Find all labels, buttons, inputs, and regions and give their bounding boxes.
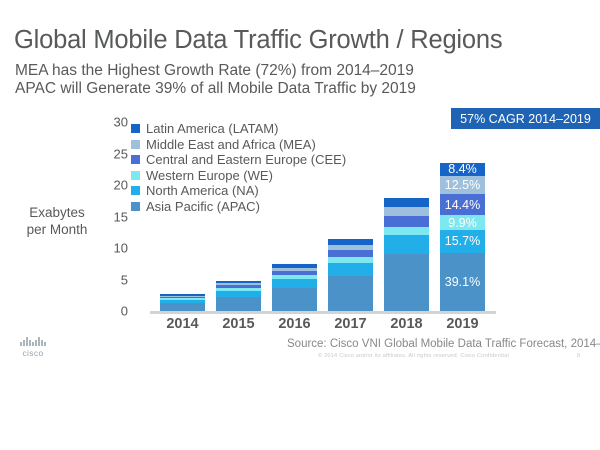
legend-item-label: Asia Pacific (APAC) [146, 199, 260, 214]
bar-segment-2018-NA[interactable] [384, 235, 429, 255]
chart-legend: Latin America (LATAM)Middle East and Afr… [131, 121, 346, 214]
bar-column-2015[interactable] [216, 281, 261, 311]
bar-segment-2019-APAC[interactable]: 39.1% [440, 253, 485, 311]
bar-column-2016[interactable] [272, 264, 317, 311]
y-axis-tick-labels: 051015202530 [0, 0, 600, 450]
bar-segment-2019-MEA[interactable]: 12.5% [440, 176, 485, 194]
bar-segment-2016-APAC[interactable] [272, 288, 317, 311]
bar-segment-2018-CEE[interactable] [384, 216, 429, 227]
y-axis-tick-0: 0 [100, 304, 128, 319]
legend-item-label: Middle East and Africa (MEA) [146, 137, 316, 152]
bar-column-2017[interactable] [328, 239, 373, 311]
page-number: 8 [577, 353, 580, 359]
y-axis-tick-15: 15 [100, 209, 128, 224]
y-axis-tick-25: 25 [100, 146, 128, 161]
bar-segment-2019-CEE[interactable]: 14.4% [440, 194, 485, 215]
source-note: Source: Cisco VNI Global Mobile Data Tra… [287, 338, 600, 350]
x-axis-tick-2019: 2019 [433, 316, 493, 332]
legend-swatch-icon [131, 155, 140, 164]
x-axis-tick-2015: 2015 [209, 316, 269, 332]
bar-segment-2017-CEE[interactable] [328, 250, 373, 257]
bar-value-label-2019-LATAM: 8.4% [440, 162, 485, 176]
cisco-logo: cisco [12, 337, 54, 358]
cisco-logo-bar [29, 340, 30, 346]
bar-column-2019[interactable]: 8.4%12.5%14.4%9.9%15.7%39.1% [440, 163, 485, 311]
bar-segment-2018-APAC[interactable] [384, 254, 429, 311]
x-axis-tick-2017: 2017 [321, 316, 381, 332]
stacked-bar-chart: Exabytes per Month 051015202530 8.4%12.5… [0, 0, 600, 450]
cisco-logo-bar [44, 342, 45, 346]
y-axis-tick-5: 5 [100, 272, 128, 287]
x-axis-baseline [150, 311, 496, 314]
legend-item-0[interactable]: Latin America (LATAM) [131, 121, 346, 137]
legend-item-label: Central and Eastern Europe (CEE) [146, 152, 346, 167]
cisco-bridge-icon [12, 337, 54, 346]
cisco-logo-bar [38, 337, 39, 346]
legend-item-3[interactable]: Western Europe (WE) [131, 168, 346, 184]
cisco-logo-bar [41, 340, 42, 346]
bar-segment-2016-NA[interactable] [272, 279, 317, 288]
copyright-note: © 2014 Cisco and/or its affiliates. All … [318, 353, 509, 359]
legend-item-label: Latin America (LATAM) [146, 121, 278, 136]
cisco-logo-bar [32, 342, 33, 346]
bar-value-label-2019-WE: 9.9% [440, 216, 485, 230]
x-axis-tick-2016: 2016 [265, 316, 325, 332]
x-axis-tick-2018: 2018 [377, 316, 437, 332]
bar-segment-2019-WE[interactable]: 9.9% [440, 215, 485, 229]
legend-item-label: Western Europe (WE) [146, 168, 273, 183]
bar-segment-2018-LATAM[interactable] [384, 198, 429, 207]
legend-swatch-icon [131, 186, 140, 195]
cisco-logo-bar [26, 337, 27, 346]
bar-value-label-2019-MEA: 12.5% [440, 178, 485, 192]
bar-segment-2014-APAC[interactable] [160, 303, 205, 311]
y-axis-tick-30: 30 [100, 115, 128, 130]
bar-value-label-2019-APAC: 39.1% [440, 275, 485, 289]
cisco-logo-bar [20, 342, 21, 346]
y-axis-tick-10: 10 [100, 241, 128, 256]
bar-value-label-2019-CEE: 14.4% [440, 198, 485, 212]
x-axis-tick-2014: 2014 [153, 316, 213, 332]
bar-segment-2018-WE[interactable] [384, 227, 429, 235]
legend-swatch-icon [131, 202, 140, 211]
legend-item-5[interactable]: Asia Pacific (APAC) [131, 199, 346, 215]
legend-item-1[interactable]: Middle East and Africa (MEA) [131, 137, 346, 153]
bar-segment-2018-MEA[interactable] [384, 207, 429, 216]
legend-item-2[interactable]: Central and Eastern Europe (CEE) [131, 152, 346, 168]
bar-segment-2015-APAC[interactable] [216, 297, 261, 311]
legend-swatch-icon [131, 140, 140, 149]
bar-segment-2019-NA[interactable]: 15.7% [440, 230, 485, 253]
bar-column-2014[interactable] [160, 294, 205, 311]
slide-canvas: Global Mobile Data Traffic Growth / Regi… [0, 0, 600, 450]
bar-segment-2019-LATAM[interactable]: 8.4% [440, 163, 485, 176]
cisco-logo-bar [23, 340, 24, 346]
bar-column-2018[interactable] [384, 198, 429, 311]
legend-swatch-icon [131, 124, 140, 133]
legend-item-label: North America (NA) [146, 183, 259, 198]
cisco-wordmark: cisco [12, 348, 54, 358]
cisco-logo-bar [35, 340, 36, 346]
bar-segment-2017-APAC[interactable] [328, 276, 373, 311]
legend-swatch-icon [131, 171, 140, 180]
bar-value-label-2019-NA: 15.7% [440, 234, 485, 248]
y-axis-tick-20: 20 [100, 178, 128, 193]
legend-item-4[interactable]: North America (NA) [131, 183, 346, 199]
bar-segment-2017-NA[interactable] [328, 263, 373, 276]
